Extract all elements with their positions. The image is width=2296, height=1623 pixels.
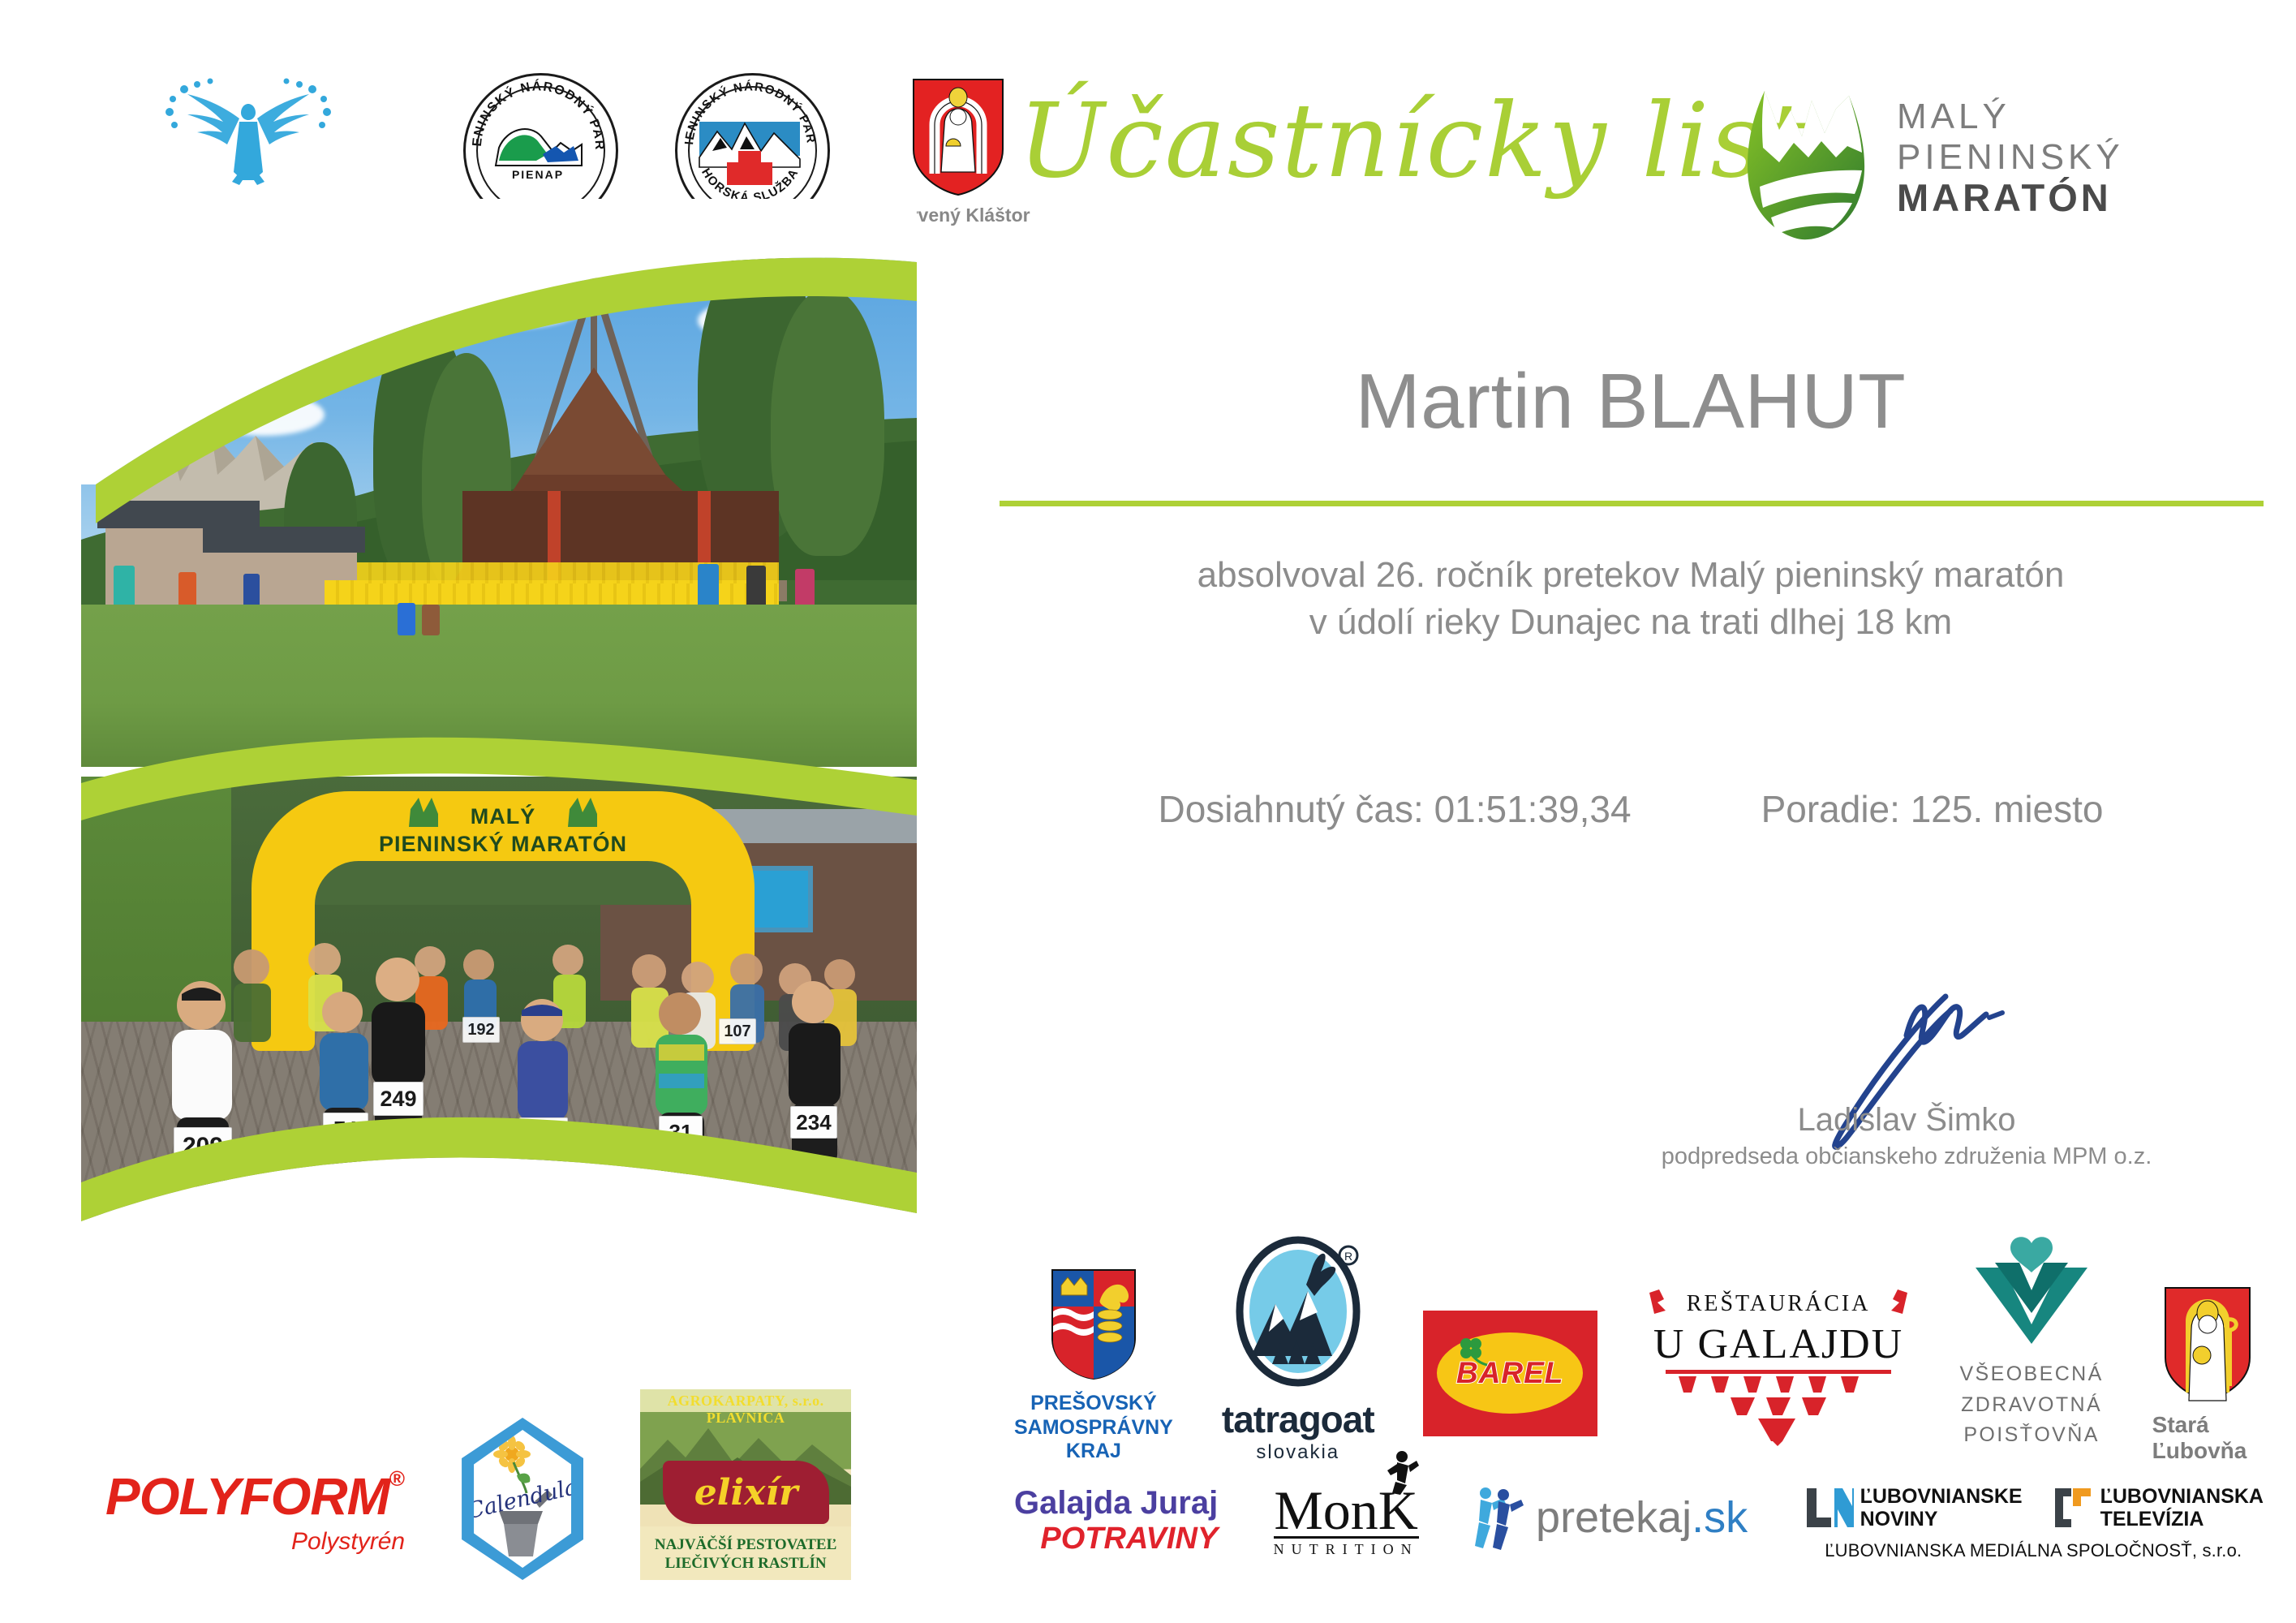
sponsor-vzp: VŠEOBECNÁ ZDRAVOTNÁ POISŤOVŇA: [1959, 1233, 2103, 1451]
sponsor-calendula: Calendula: [462, 1418, 583, 1580]
green-leaf-mountain-drop-icon: [1740, 73, 1874, 243]
sponsor-lubovnianska-televizia: ĽUBOVNIANSKA TELEVÍZIA: [2052, 1485, 2264, 1530]
sponsor-sublabel: Polystyrén: [291, 1528, 405, 1556]
logo-line-2: PIENINSKÝ: [1897, 137, 2124, 177]
finish-time: Dosiahnutý čas: 01:51:39,34: [1159, 787, 1632, 831]
svg-text:R: R: [1344, 1250, 1352, 1263]
photo-race-start: MALÝ PIENINSKÝ MARATÓN: [81, 777, 917, 1359]
agrokarpaty-elixir-icon: AGROKARPATY, s.r.o. PLAVNICA elixír NAJV…: [640, 1389, 851, 1580]
sponsor-monk-nutrition: MonK NUTRITION: [1274, 1485, 1419, 1558]
sponsor-label-line2: TELEVÍZIA: [2100, 1508, 2264, 1530]
signatory-role: podpredseda občianskeho združenia MPM o.…: [1615, 1143, 2199, 1170]
sponsor-galajda-juraj: Galajda Juraj POTRAVINY: [1014, 1485, 1218, 1556]
calendula-flower-mortar-icon: Calendula: [462, 1418, 583, 1580]
sponsor-label: tatragoat: [1222, 1397, 1374, 1441]
folk-ornament-icon: [1881, 1288, 1911, 1320]
trademark-symbol: ®: [389, 1466, 405, 1492]
sponsor-label-line1: ĽUBOVNIANSKE: [1860, 1485, 2023, 1508]
sponsor-label-line2: SAMOSPRÁVNY: [1014, 1416, 1173, 1440]
sponsor-company-name: ĽUBOVNIANSKA MEDIÁLNA SPOLOČNOSŤ, s.r.o.: [1825, 1540, 2242, 1561]
bib-number: 192: [462, 1017, 500, 1043]
rank-value: 125. miesto: [1911, 788, 2104, 830]
folk-ornament-icon: [1646, 1288, 1675, 1320]
certificate-page: KÚPELE ČERVENÝ KLÁŠTOR Smerdžonka PIENIN…: [0, 0, 2296, 1623]
two-runners-icon: [1474, 1485, 1524, 1550]
sponsor-tatragoat: R tatragoat slovakia: [1222, 1234, 1374, 1464]
signature-block: Ladislav Šimko podpredseda občianskeho z…: [1615, 998, 2199, 1170]
product-label: elixír: [694, 1472, 798, 1513]
finish-time-value: 01:51:39,34: [1434, 788, 1632, 830]
event-logo: MALÝ PIENINSKÝ MARATÓN: [1740, 73, 2124, 243]
sponsor-label: Stará Ľubovňa: [2152, 1412, 2264, 1464]
sponsor-label-line2: POTRAVINY: [1040, 1522, 1218, 1556]
finish-time-label: Dosiahnutý čas:: [1159, 788, 1424, 830]
certificate-description: absolvoval 26. ročník pretekov Malý pien…: [998, 552, 2264, 646]
sponsor-row-primary: PREŠOVSKÝ SAMOSPRÁVNY KRAJ R tatragoat: [1014, 1233, 2264, 1464]
tatragoat-chamois-icon: R: [1233, 1234, 1363, 1393]
bib-number: 234: [790, 1106, 837, 1139]
lt-logo-icon: [2052, 1485, 2094, 1530]
page-title: Účastnícky list: [1018, 81, 1808, 200]
sponsor-presovsky-kraj: PREŠOVSKÝ SAMOSPRÁVNY KRAJ: [1014, 1268, 1173, 1464]
rank-label: Poradie:: [1761, 788, 1900, 830]
description-line-1: absolvoval 26. ročník pretekov Malý pien…: [998, 552, 2264, 599]
vzp-heart-chevron-icon: [1971, 1233, 2092, 1351]
participant-name: Martin BLAHUT: [998, 357, 2264, 446]
bib-number: 107: [719, 1018, 756, 1044]
presov-region-coat-of-arms-icon: [1050, 1268, 1137, 1385]
sponsor-agrokarpaty: AGROKARPATY, s.r.o. PLAVNICA elixír NAJV…: [640, 1389, 851, 1580]
sponsor-label-line2: NOVINY: [1860, 1508, 2023, 1530]
sponsor-label-line3: POISŤOVŇA: [1959, 1420, 2103, 1451]
sponsor-row-media: Galajda Juraj POTRAVINY MonK NUTRITION: [1014, 1485, 2264, 1561]
bib-number: 147: [519, 1117, 568, 1152]
logo-line-3: MARATÓN: [1897, 177, 2124, 220]
logo-line-1: MALÝ: [1897, 97, 2124, 136]
barel-clover-icon: BAREL: [1423, 1311, 1597, 1436]
bib-number: 74: [323, 1113, 368, 1145]
results: Dosiahnutý čas: 01:51:39,34 Poradie: 125…: [998, 787, 2264, 831]
sponsor-label: PREŠOVSKÝ SAMOSPRÁVNY KRAJ: [1014, 1392, 1173, 1464]
sponsor-tagline: NAJVÄČŠÍ PESTOVATEĽ LIEČIVÝCH RASTLÍN: [640, 1535, 851, 1574]
svg-text:PIENAP: PIENAP: [512, 168, 564, 181]
bib-number: 209: [174, 1127, 232, 1166]
sponsor-sublabel: slovakia: [1256, 1441, 1339, 1464]
sponsor-tagline-line1: NAJVÄČŠÍ PESTOVATEĽ: [640, 1535, 851, 1555]
folk-ornament-icon: [1661, 1368, 1896, 1446]
monk-runner-icon: [1376, 1449, 1420, 1495]
sponsor-label-line2: U GALAJDU: [1653, 1320, 1903, 1368]
sponsor-lubovnianske-noviny: ĽUBOVNIANSKE NOVINY: [1804, 1485, 2023, 1530]
signatory-name: Ladislav Šimko: [1615, 1102, 2199, 1139]
sponsor-pretekaj-sk: pretekaj.sk: [1474, 1485, 1748, 1550]
sponsor-label-line1: Galajda Juraj: [1014, 1485, 1218, 1522]
sponsor-tagline-line2: LIEČIVÝCH RASTLÍN: [640, 1554, 851, 1573]
sponsor-stara-lubovna: Stará Ľubovňa: [2152, 1285, 2264, 1464]
sponsor-label: pretekaj.sk: [1536, 1492, 1748, 1543]
sponsor-lubovnianska-medialna: ĽUBOVNIANSKE NOVINY ĽUBOVNIANSKA TELEVÍZ…: [1804, 1485, 2264, 1561]
sponsor-label-line3: KRAJ: [1014, 1440, 1173, 1464]
angel-water-wings-icon: [155, 65, 342, 199]
description-line-2: v údolí rieky Dunajec na trati dlhej 18 …: [998, 599, 2264, 646]
svg-text:PIENINSKÝ NÁRODNÝ PARK: PIENINSKÝ NÁRODNÝ PARK: [675, 73, 818, 145]
sponsor-polyform: POLYFORM ® Polystyrén: [105, 1466, 405, 1556]
stara-lubovna-coat-of-arms-icon: [2163, 1285, 2252, 1407]
sponsor-label-name: pretekaj: [1536, 1493, 1692, 1542]
sponsor-label: ĽUBOVNIANSKE NOVINY: [1860, 1485, 2023, 1530]
bib-number: 249: [373, 1082, 424, 1116]
sponsor-label: ĽUBOVNIANSKA TELEVÍZIA: [2100, 1485, 2264, 1530]
sponsor-row-left: POLYFORM ® Polystyrén: [105, 1389, 917, 1580]
sponsor-label-line2: ZDRAVOTNÁ: [1959, 1390, 2103, 1421]
coat-of-arms-monk-icon: [910, 76, 1006, 198]
bib-number: 31: [659, 1116, 703, 1148]
sponsor-label-line1: ĽUBOVNIANSKA: [2100, 1485, 2264, 1508]
ln-logo-icon: [1804, 1485, 1854, 1530]
sponsor-barel: BAREL: [1423, 1311, 1597, 1436]
sponsor-u-galajdu: REŠTAURÁCIA U GALAJDU: [1646, 1288, 1911, 1446]
green-divider: [1000, 501, 2264, 506]
sponsor-label-line1: VŠEOBECNÁ: [1959, 1359, 2103, 1390]
sponsor-label: VŠEOBECNÁ ZDRAVOTNÁ POISŤOVŇA: [1959, 1359, 2103, 1451]
sponsor-label-line1: PREŠOVSKÝ: [1014, 1392, 1173, 1416]
sponsor-label: POLYFORM: [105, 1466, 389, 1526]
rank: Poradie: 125. miesto: [1761, 787, 2104, 831]
photo-amphitheatre: [81, 199, 917, 767]
sponsor-label-suffix: .sk: [1692, 1493, 1748, 1542]
sponsor-label-line1: REŠTAURÁCIA: [1687, 1291, 1871, 1317]
photo-collage: MALÝ PIENINSKÝ MARATÓN: [81, 199, 917, 1359]
svg-text:PIENINSKÝ NÁRODNÝ PARK: PIENINSKÝ NÁRODNÝ PARK: [463, 73, 606, 151]
